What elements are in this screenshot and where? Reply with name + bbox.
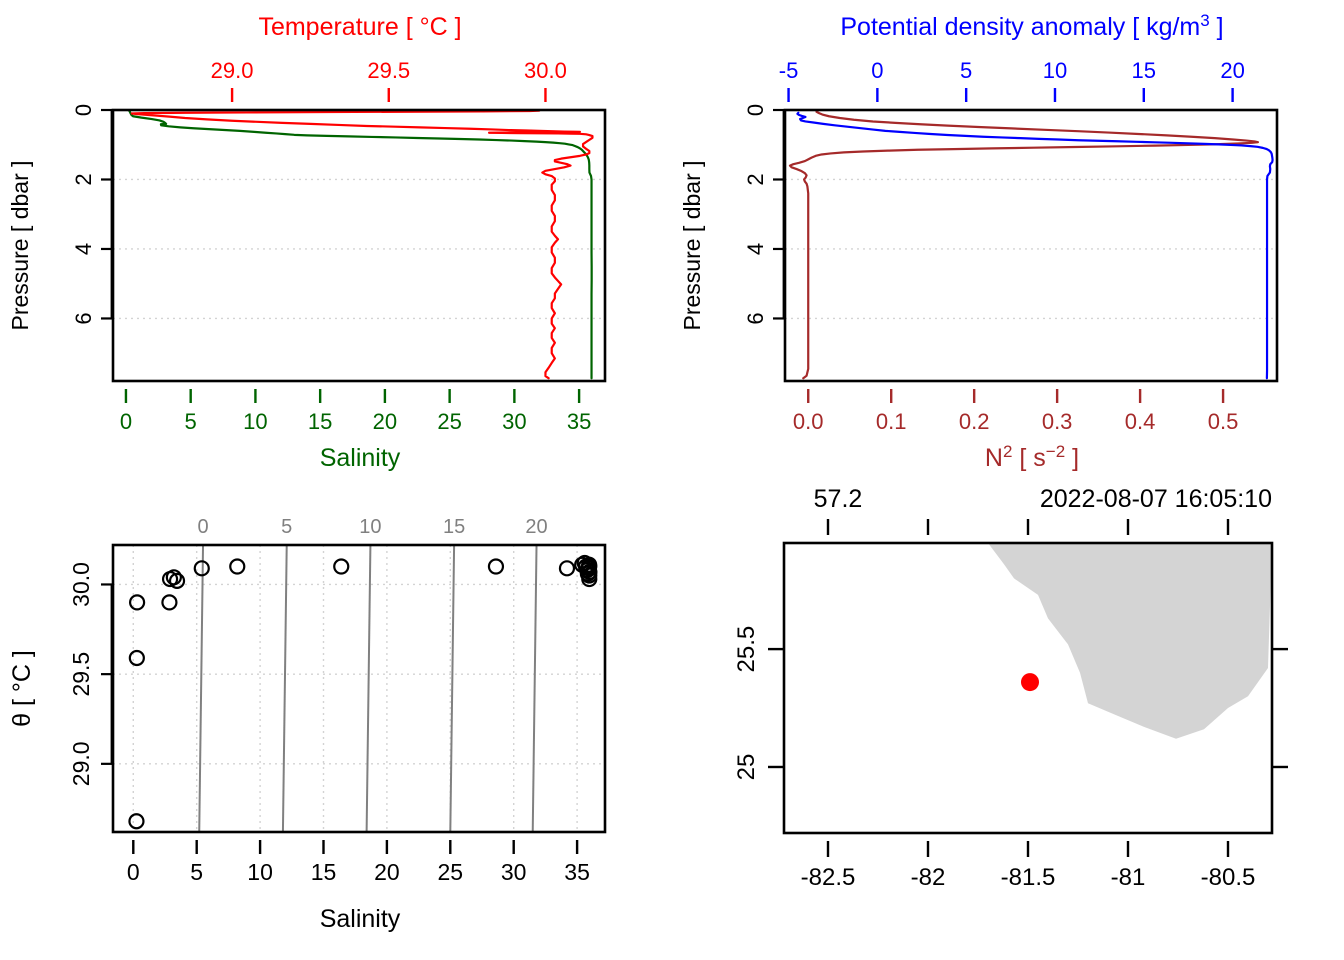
- tick-label-bottom-axis: 10: [243, 409, 267, 434]
- series-line-temperature: [132, 111, 593, 379]
- map-land-group: [988, 543, 1272, 739]
- isopycnal-contour: [533, 545, 537, 832]
- tick-label-top-axis: 20: [1220, 58, 1244, 83]
- map-header-left: 57.2: [814, 485, 863, 513]
- tick-label-pressure: 4: [743, 243, 768, 255]
- tick-label-top-axis: 15: [1132, 58, 1156, 83]
- tick-label-longitude: -81.5: [1001, 864, 1056, 891]
- tick-label-longitude: -81: [1111, 864, 1146, 891]
- tick-label-bottom-axis: 30: [502, 409, 526, 434]
- profile-density-n2-svg: 0246Pressure [ dbar ]-505101520Potential…: [672, 0, 1344, 480]
- tick-label-bottom-axis: 0.3: [1042, 409, 1073, 434]
- tick-label-latitude: 25.5: [733, 626, 760, 673]
- axis-title-pressure: Pressure [ dbar ]: [7, 160, 33, 330]
- tick-label-top-axis: 29.5: [367, 58, 410, 83]
- tick-label-bottom-axis: 0: [120, 409, 132, 434]
- isopycnal-contour: [367, 545, 371, 832]
- tick-label-top-axis: 30.0: [524, 58, 567, 83]
- axis-title-salinity: Salinity: [320, 905, 401, 933]
- tick-label-salinity: 5: [190, 859, 203, 885]
- tick-label-pressure: 2: [743, 173, 768, 185]
- tick-label-pressure: 4: [71, 243, 96, 255]
- tick-label-salinity: 30: [501, 859, 527, 885]
- isopycnal-label: 0: [197, 516, 208, 538]
- tick-label-longitude: -80.5: [1201, 864, 1256, 891]
- ts-data-point: [560, 561, 574, 575]
- tick-label-pressure: 2: [71, 173, 96, 185]
- tick-label-bottom-axis: 0.4: [1125, 409, 1156, 434]
- tick-label-bottom-axis: 20: [373, 409, 397, 434]
- series-line-potential-density-anomaly: [797, 113, 1272, 378]
- panel-station-map: -82.5-82-81.5-81-80.52525.557.22022-08-0…: [672, 480, 1344, 960]
- station-map-svg: -82.5-82-81.5-81-80.52525.557.22022-08-0…: [672, 480, 1344, 960]
- isopycnal-contour: [283, 545, 287, 832]
- tick-label-top-axis: 5: [960, 58, 972, 83]
- tick-label-latitude: 25: [733, 754, 760, 781]
- tick-label-bottom-axis: 25: [437, 409, 461, 434]
- panel-profile-density-n2: 0246Pressure [ dbar ]-505101520Potential…: [672, 0, 1344, 480]
- tick-label-theta: 29.5: [68, 652, 94, 697]
- tick-label-longitude: -82: [911, 864, 946, 891]
- tick-label-salinity: 10: [247, 859, 273, 885]
- tick-label-salinity: 15: [311, 859, 337, 885]
- tick-label-pressure: 6: [743, 312, 768, 324]
- tick-label-bottom-axis: 35: [567, 409, 591, 434]
- isopycnal-label: 10: [359, 516, 381, 538]
- tick-label-salinity: 0: [127, 859, 140, 885]
- isopycnal-contour: [199, 545, 203, 832]
- tick-label-salinity: 25: [438, 859, 464, 885]
- axis-title-n2: N2 [ s−2 ]: [985, 442, 1079, 472]
- panel-profile-temperature-salinity: 0246Pressure [ dbar ]29.029.530.0Tempera…: [0, 0, 672, 480]
- isopycnal-label: 5: [281, 516, 292, 538]
- ts-data-point: [162, 595, 176, 609]
- isopycnal-label: 20: [525, 516, 547, 538]
- profile-ts-svg: 0246Pressure [ dbar ]29.029.530.0Tempera…: [0, 0, 672, 480]
- tick-label-pressure: 6: [71, 312, 96, 324]
- ts-data-point: [130, 651, 144, 665]
- isopycnal-label: 15: [443, 516, 465, 538]
- tick-label-theta: 30.0: [68, 562, 94, 607]
- ts-data-point: [489, 560, 503, 574]
- tick-label-bottom-axis: 0.5: [1208, 409, 1239, 434]
- tick-label-bottom-axis: 5: [185, 409, 197, 434]
- plot-box: [113, 545, 605, 832]
- tick-label-bottom-axis: 0.1: [876, 409, 907, 434]
- tick-label-salinity: 20: [374, 859, 400, 885]
- ts-diagram-svg: 0510152005101520253035Salinity29.029.530…: [0, 480, 672, 960]
- ts-data-point: [130, 595, 144, 609]
- series-line-salinity: [129, 111, 591, 379]
- tick-label-bottom-axis: 0.2: [959, 409, 990, 434]
- axis-title-temperature: Temperature [ °C ]: [258, 13, 461, 41]
- station-marker: [1021, 673, 1039, 691]
- axis-title-pressure: Pressure [ dbar ]: [679, 160, 705, 330]
- tick-label-salinity: 35: [564, 859, 590, 885]
- ts-data-point: [230, 560, 244, 574]
- map-header-right: 2022-08-07 16:05:10: [1040, 485, 1272, 513]
- tick-label-top-axis: 0: [871, 58, 883, 83]
- tick-label-pressure: 0: [743, 104, 768, 116]
- tick-label-top-axis: 29.0: [211, 58, 254, 83]
- ts-data-point: [129, 814, 143, 828]
- tick-label-longitude: -82.5: [801, 864, 856, 891]
- tick-label-top-axis: 10: [1043, 58, 1067, 83]
- tick-label-bottom-axis: 0.0: [793, 409, 824, 434]
- axis-title-salinity: Salinity: [320, 444, 401, 472]
- series-line-n2: [790, 112, 1258, 378]
- ts-data-point: [334, 560, 348, 574]
- axis-title-theta: θ [ °C ]: [8, 650, 36, 727]
- land-polygon: [988, 543, 1272, 739]
- tick-label-pressure: 0: [71, 104, 96, 116]
- figure-root: 0246Pressure [ dbar ]29.029.530.0Tempera…: [0, 0, 1344, 960]
- axis-title-potential-density-anomaly: Potential density anomaly [ kg/m3 ]: [840, 11, 1223, 41]
- tick-label-top-axis: -5: [779, 58, 799, 83]
- plot-box: [113, 110, 605, 381]
- tick-label-theta: 29.0: [68, 741, 94, 786]
- panel-ts-diagram: 0510152005101520253035Salinity29.029.530…: [0, 480, 672, 960]
- tick-label-bottom-axis: 15: [308, 409, 332, 434]
